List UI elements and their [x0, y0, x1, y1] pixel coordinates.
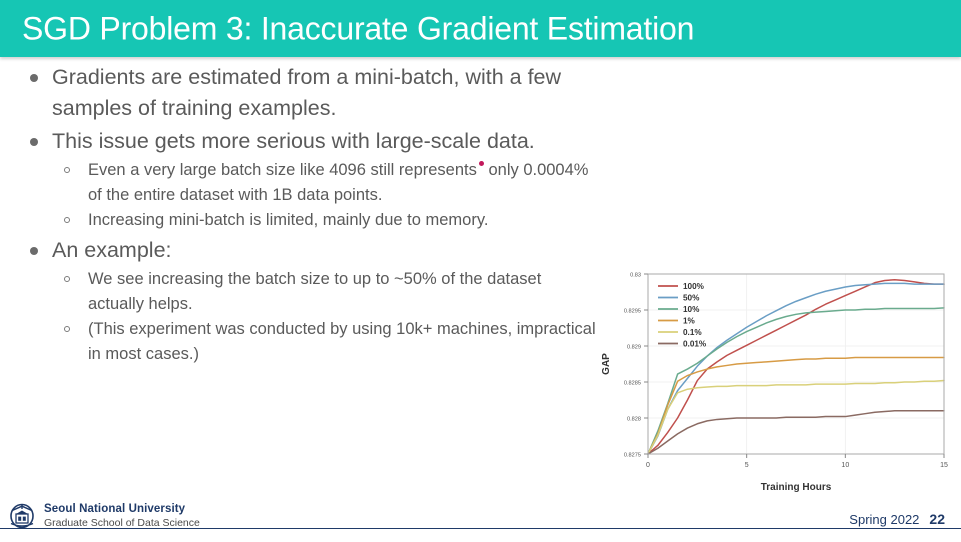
bullet-text: Increasing mini-batch is limited, mainly…: [88, 211, 488, 229]
x-tick-label: 15: [940, 462, 948, 469]
sub-bullet-list: Even a very large batch size like 4096 s…: [52, 158, 600, 233]
x-tick-label: 5: [745, 462, 749, 469]
term-label: Spring 2022: [849, 512, 919, 527]
y-tick-label: 0.83: [630, 273, 641, 279]
series-line-0.01%: [648, 411, 944, 454]
list-item: Gradients are estimated from a mini-batc…: [0, 62, 600, 124]
legend-label-0.01%: 0.01%: [683, 340, 707, 349]
y-tick-label: 0.829: [627, 345, 641, 351]
slide-body: Gradients are estimated from a mini-batc…: [0, 62, 600, 369]
footer-meta: Spring 2022 22: [849, 511, 945, 527]
bullet-text: Even a very large batch size like 4096 s…: [88, 161, 477, 179]
x-tick-label: 0: [646, 462, 650, 469]
list-item: Increasing mini-batch is limited, mainly…: [52, 208, 600, 233]
bullet-text: This issue gets more serious with large-…: [52, 129, 535, 153]
logo-text: Seoul National University Graduate Schoo…: [44, 503, 200, 529]
legend-label-10%: 10%: [683, 305, 700, 314]
bullet-text: We see increasing the batch size to up t…: [88, 270, 541, 313]
list-item: An example: We see increasing the batch …: [0, 235, 600, 367]
list-item: (This experiment was conducted by using …: [52, 317, 600, 367]
bullet-text: (This experiment was conducted by using …: [88, 320, 596, 363]
school-name: Graduate School of Data Science: [44, 517, 200, 529]
university-logo: Seoul National University Graduate Schoo…: [8, 503, 200, 529]
page-number: 22: [929, 511, 945, 527]
legend-label-100%: 100%: [683, 282, 705, 291]
x-tick-label: 10: [841, 462, 849, 469]
y-tick-label: 0.8285: [624, 381, 641, 387]
y-tick-label: 0.828: [627, 417, 641, 423]
page-title: SGD Problem 3: Inaccurate Gradient Estim…: [22, 10, 694, 47]
university-name: Seoul National University: [44, 503, 200, 516]
legend-label-1%: 1%: [683, 317, 696, 326]
legend-label-0.1%: 0.1%: [683, 328, 702, 337]
slide-title-band: SGD Problem 3: Inaccurate Gradient Estim…: [0, 0, 961, 57]
bullet-text: Gradients are estimated from a mini-batc…: [52, 65, 561, 120]
snu-shield-icon: [8, 503, 36, 529]
bullet-dot-icon: [30, 74, 38, 82]
list-item: This issue gets more serious with large-…: [0, 126, 600, 233]
list-item: We see increasing the batch size to up t…: [52, 267, 600, 317]
y-tick-label: 0.8275: [624, 453, 641, 459]
bullet-circle-icon: [64, 167, 70, 173]
bullet-dot-icon: [30, 138, 38, 146]
bullet-circle-icon: [64, 217, 70, 223]
x-axis-label: Training Hours: [761, 482, 832, 493]
bullet-circle-icon: [64, 326, 70, 332]
y-tick-label: 0.8295: [624, 309, 641, 315]
bullet-text: An example:: [52, 238, 172, 262]
bullet-circle-icon: [64, 276, 70, 282]
gap-vs-training-hours-chart: 0.82750.8280.82850.8290.82950.83051015Tr…: [596, 262, 956, 500]
sub-bullet-list: We see increasing the batch size to up t…: [52, 267, 600, 367]
bullet-dot-icon: [30, 247, 38, 255]
comment-marker-icon[interactable]: [479, 161, 484, 166]
bullet-list: Gradients are estimated from a mini-batc…: [0, 62, 600, 367]
legend-label-50%: 50%: [683, 294, 700, 303]
y-axis-label: GAP: [601, 353, 612, 375]
chart-canvas: 0.82750.8280.82850.8290.82950.83051015Tr…: [596, 262, 956, 500]
list-item: Even a very large batch size like 4096 s…: [52, 158, 600, 208]
